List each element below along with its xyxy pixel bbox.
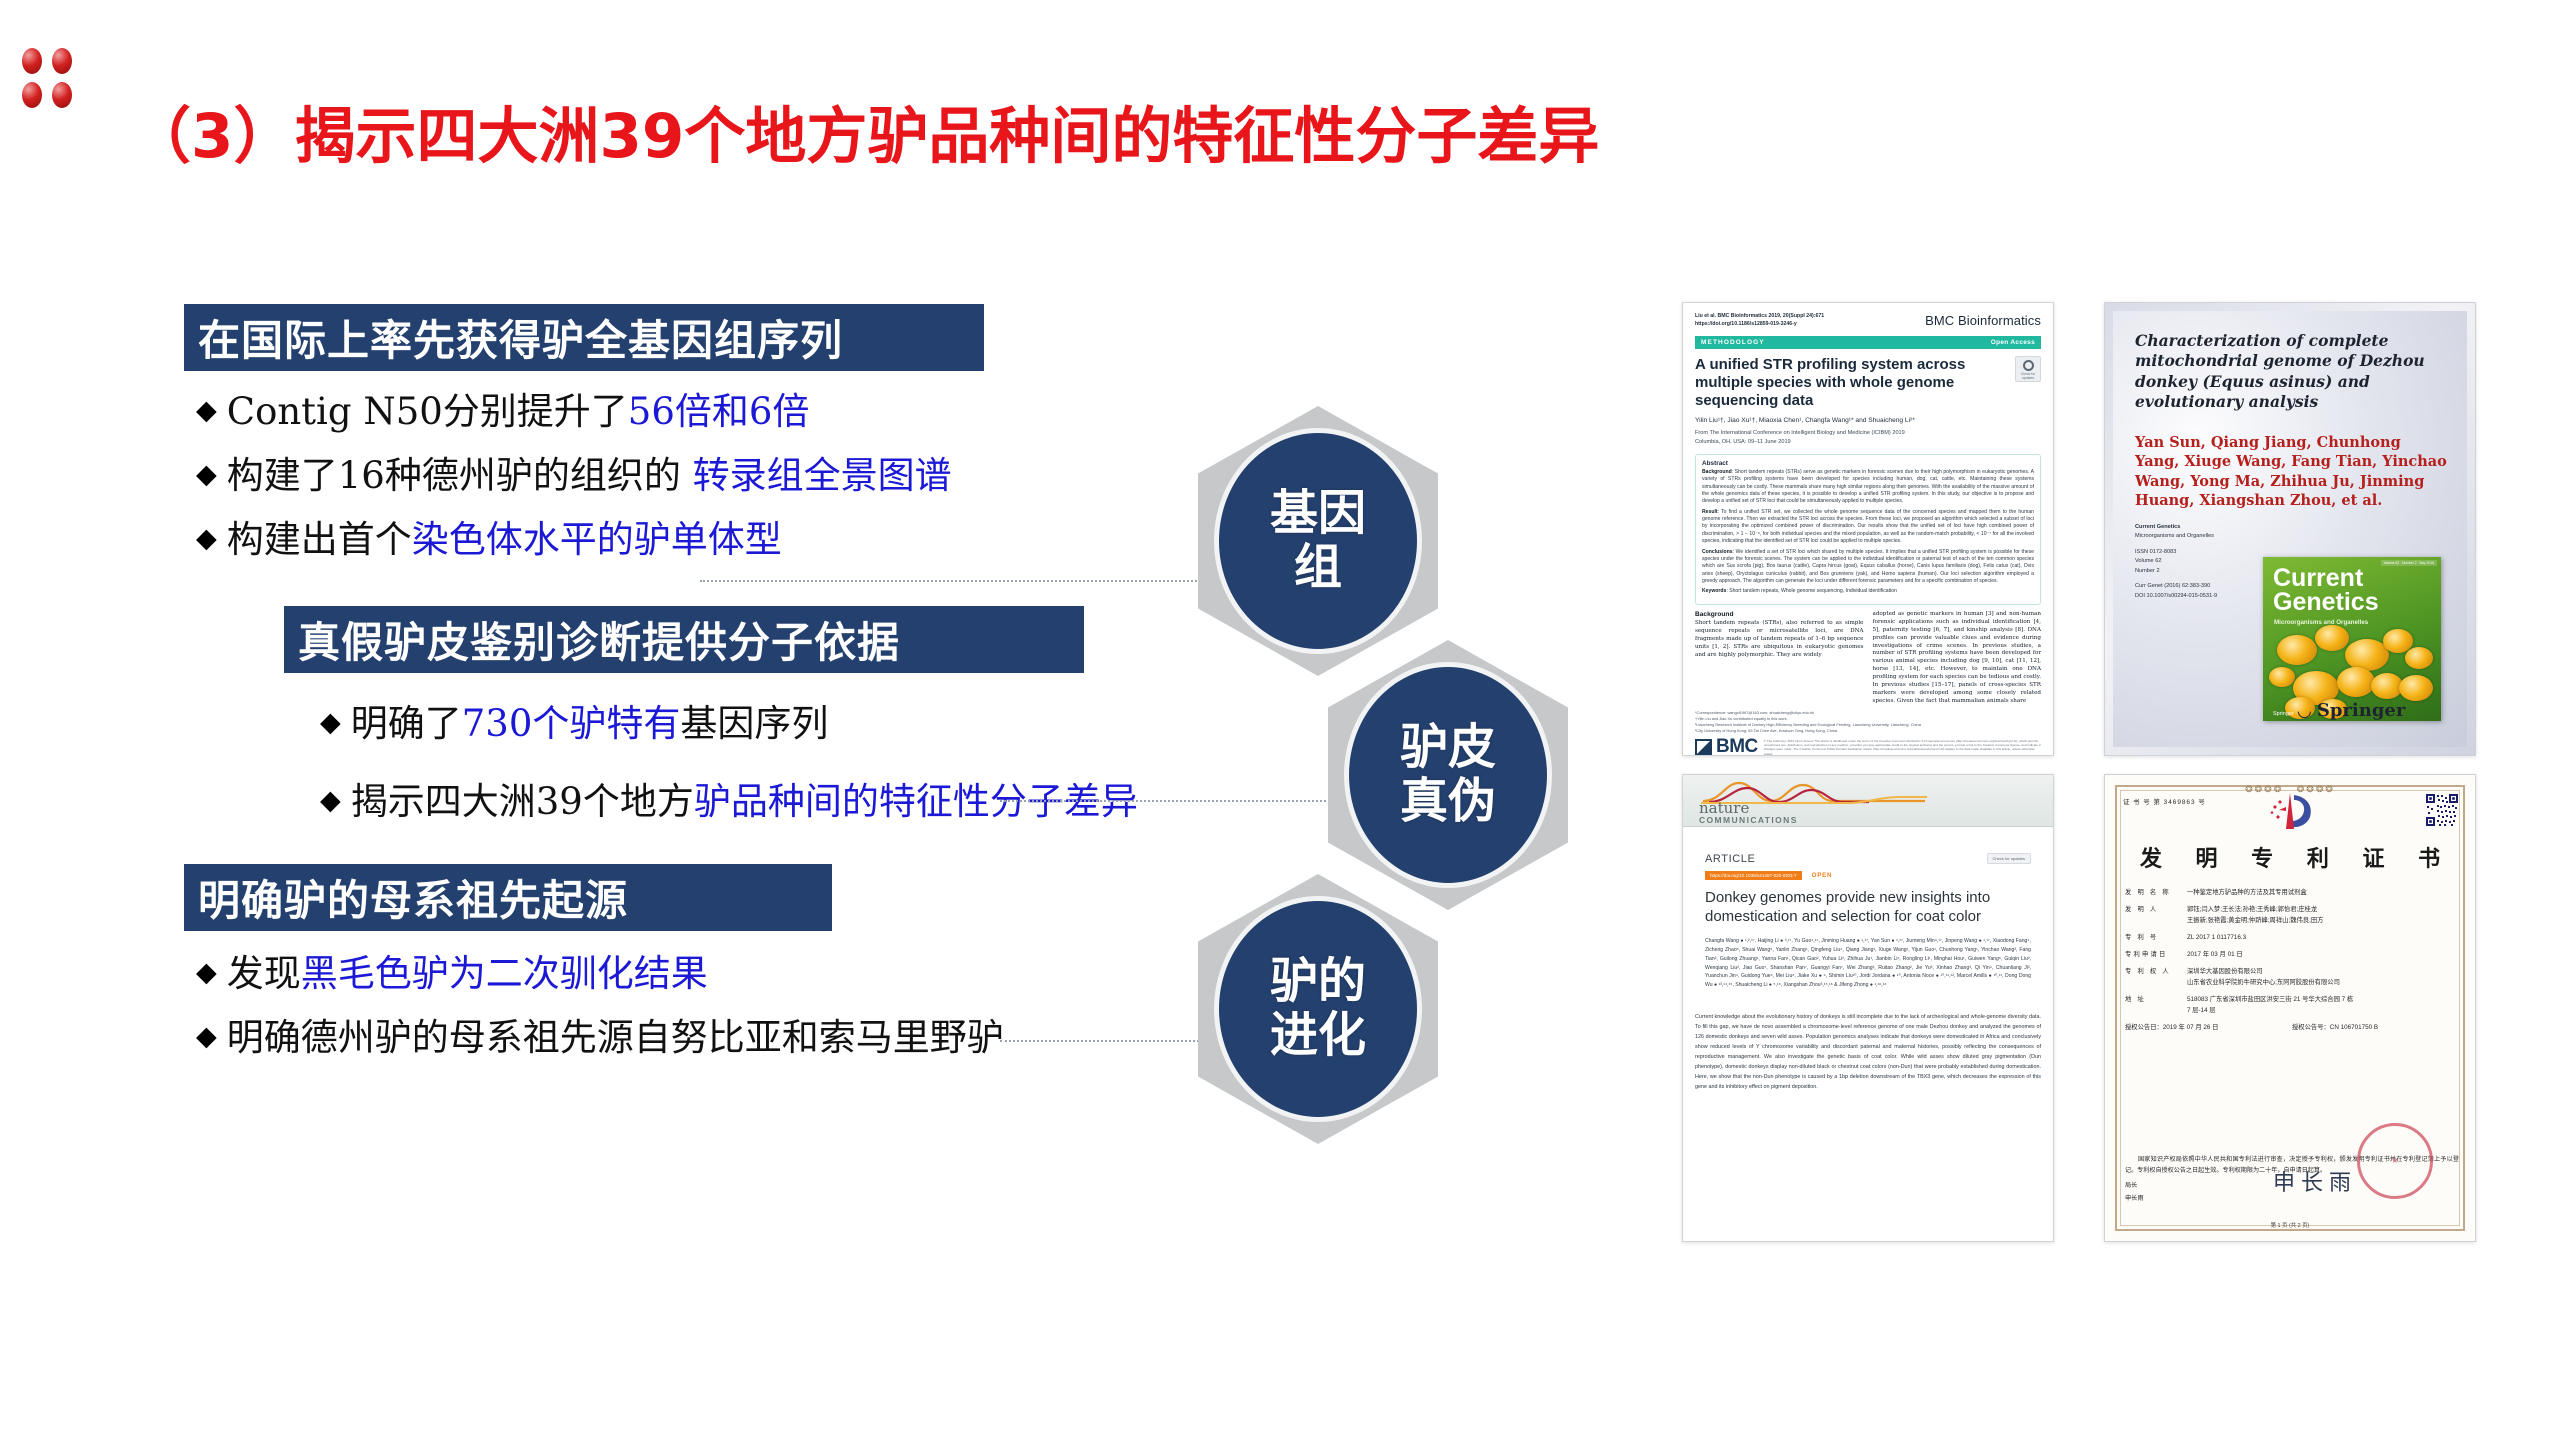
cg-volume: Volume 62 [2135,557,2263,567]
nat-article-label: ARTICLE [1705,853,1755,865]
text-plain: 构建了16种德州驴的组织的 [227,454,693,497]
list-item: ◆ 构建出首个染色体水平的驴单体型 [196,516,1256,564]
text-plain: 构建出首个 [227,518,412,561]
nat-body: ARTICLE Check for updates https://doi.or… [1683,827,2053,990]
field-value-line1: 518083 广东省深圳市盐田区洪安三街 21 号华大综合园 7 栋 [2187,996,2353,1003]
text-plain: 基因序列 [680,702,828,745]
hexagon-label-line1: 基因 [1270,487,1366,541]
deco-dot-1 [22,48,42,74]
text-highlight: 730个驴特有 [462,702,681,745]
section-header-genome: 在国际上率先获得驴全基因组序列 [184,304,984,371]
diamond-bullet-icon: ◆ [196,452,217,497]
cg-number: Number 2 [2135,567,2263,577]
patent-cert-number: 证 书 号 第 3469863 号 [2123,797,2206,806]
patent-note-director-name: 申长雨 [2125,1193,2144,1205]
field-value: 深圳华大基因股份有限公司 山东省农业科学院奶牛研究中心;东阿阿胶股份有限公司 [2187,966,2459,988]
cg-journal-meta: Current Genetics Microorganisms and Orga… [2113,511,2263,602]
bmc-abstract-box: Abstract Background: Short tandem repeat… [1695,454,2041,605]
field-key: 专 利 权 人 [2125,966,2187,988]
list-item-text: 构建了16种德州驴的组织的 转录组全景图谱 [227,452,1256,500]
page-title: （3）揭示四大洲39个地方驴品种间的特征性分子差异 [130,86,1599,175]
field-key: 发 明 名 称 [2125,887,2187,898]
bmc-top-row: Liu et al. BMC Bioinformatics 2019, 20(S… [1683,303,2053,331]
hexagon-shape: 驴皮 真伪 [1328,640,1568,910]
bmc-column-right: adopted as genetic markers in human [3] … [1873,611,2042,706]
bmc-logo-word: BMC [1716,736,1758,756]
check-label: Check for updates [2021,372,2036,380]
hexagon-shape: 基因 组 [1198,406,1438,676]
bmc-footnotes: *Correspondence: wangcf1967@163.com; shu… [1683,706,2053,733]
list-item: ◆ Contig N50分别提升了56倍和6倍 [196,388,1256,436]
bullet-list-maternal-origin: ◆ 发现黑毛色驴为二次驯化结果 ◆ 明确德州驴的母系祖先源自努比亚和索马里野驴 [196,950,1176,1078]
bullet-list-donkeyhide: ◆ 明确了730个驴特有基因序列 ◆ 揭示四大洲39个地方驴品种间的特征性分子差… [320,700,1340,856]
deco-dot-4 [52,82,72,108]
connector-line-evolution [1000,1040,1215,1042]
hexagon-label-line2: 进化 [1270,1009,1366,1063]
patent-field-row: 发 明 名 称 一种鉴定地方驴品种的方法及其专用试剂盒 [2125,887,2459,898]
list-item-text: 明确了730个驴特有基因序列 [351,700,1340,748]
nature-communications-wordmark: COMMUNICATIONS [1699,815,1798,825]
nat-open-badge: OPEN [1812,872,1833,879]
nat-authors: Changfa Wang ● ¹,²,¹⁷, Haijing Li ● ³,¹⁷… [1705,937,2031,990]
springer-glyph-icon: ◡ [2297,701,2312,721]
bmc-conf-line2: Columbia, OH, USA: 09–11 June 2019 [1695,438,2041,447]
decorative-dots [22,48,84,110]
text-plain: Contig N50分别提升了 [227,390,628,433]
body: : To find a unified STR set, we collecte… [1702,509,2034,545]
field-value: 2017 年 03 月 01 日 [2187,949,2459,960]
patent-signature: 申长雨 [2273,1165,2357,1197]
patent-fields: 发 明 名 称 一种鉴定地方驴品种的方法及其专用试剂盒 发 明 人 郭钰;闫入梦… [2125,887,2459,1039]
bmc-license-text: © The Author(s). 2019 Open Access This a… [1764,739,2041,756]
qr-code-icon [2425,793,2459,827]
bmc-conf-line1: From The International Conference on Int… [1695,429,2041,438]
hexagon-label-line2: 组 [1294,541,1342,595]
cg-authors: Yan Sun, Qiang Jiang, Chunhong Yang, Xiu… [2113,413,2467,511]
patent-field-row: 发 明 人 郭钰;闫入梦;王长法;孙艳;王秀峰;郭怡君;庄桂龙 王振新;张艳霞;… [2125,904,2459,926]
text-highlight: 56倍和6倍 [628,390,810,433]
list-item: ◆ 明确德州驴的母系祖先源自努比亚和索马里野驴 [196,1014,1096,1062]
cg-cover-springer: Springer [2273,711,2294,717]
cg-publisher-name: Springer [2317,700,2406,721]
cg-journal-cover-image: Volume 62 · Number 2 · May 2016 Current … [2263,557,2441,721]
hexagon-label: 驴皮 真伪 [1344,662,1553,889]
document-nature-communications[interactable]: nature COMMUNICATIONS ARTICLE Check for … [1682,774,2054,1242]
list-item-text: 揭示四大洲39个地方驴品种间的特征性分子差异 [351,778,1340,826]
patent-office-logo-icon [2264,791,2316,831]
document-patent-certificate[interactable]: ❂❂❂❂ ❂❂❂❂ 证 书 号 第 3469863 号 [2104,774,2476,1242]
section-header-maternal-origin: 明确驴的母系祖先起源 [184,864,832,931]
diamond-bullet-icon: ◆ [196,1014,217,1059]
cg-issn: ISSN 0172-8083 [2135,548,2263,558]
bmc-logo-mark-icon [1695,739,1712,756]
field-key: 专利申请日 [2125,949,2187,960]
list-item: ◆ 构建了16种德州驴的组织的 转录组全景图谱 [196,452,1256,500]
hexagon-shape: 驴的 进化 [1198,874,1438,1144]
bmc-journal-brand: BMC Bioinformatics [1925,313,2041,328]
text-plain: 明确了 [351,702,462,745]
field-value-line2: 王振新;张艳霞;黄金明;仲跻峰;周祥山;魏伟良;田方 [2187,915,2459,926]
document-bmc-bioinformatics[interactable]: Liu et al. BMC Bioinformatics 2019, 20(S… [1682,302,2054,756]
cg-doi: DOI 10.1007/s00294-015-0531-9 [2135,592,2263,602]
ring-shape [2023,360,2034,371]
bmc-abstract-result: Result: To find a unified STR set, we co… [1702,509,2034,546]
bmc-paper-title: A unified STR profiling system across mu… [1695,356,2009,411]
list-item: ◆ 揭示四大洲39个地方驴品种间的特征性分子差异 [320,778,1340,826]
patent-grant-row: 授权公告日：2019 年 07 月 26 日 授权公告号：CN 10670175… [2125,1022,2459,1033]
field-value-line1: 深圳华大基因股份有限公司 [2187,968,2263,975]
hexagon-label: 基因 组 [1214,428,1423,655]
cg-cover-volume: Volume 62 · Number 2 · May 2016 [2381,560,2437,566]
bmc-title-row: A unified STR profiling system across mu… [1683,349,2053,411]
field-value: 518083 广东省深圳市盐田区洪安三街 21 号华大综合园 7 栋 7 层-1… [2187,994,2459,1016]
patent-field-row: 地 址 518083 广东省深圳市盐田区洪安三街 21 号华大综合园 7 栋 7… [2125,994,2459,1016]
nat-abstract: Current knowledge about the evolutionary… [1683,1012,2053,1092]
text-plain: 发现 [227,952,301,995]
body: : Short tandem repeats, Whole genome seq… [1726,588,1896,594]
diamond-bullet-icon: ◆ [196,516,217,561]
text-highlight: 染色体水平的驴单体型 [412,518,782,561]
label: Keywords [1702,588,1726,594]
bmc-methodology-strip: METHODOLOGY Open Access [1695,336,2041,349]
hexagon-label-line1: 驴皮 [1400,721,1496,775]
hexagon-genome[interactable]: 基因 组 [1198,406,1438,676]
label: Background [1702,469,1732,475]
deco-dot-2 [52,48,72,74]
patent-note-director-label: 局长 [2125,1180,2144,1192]
nat-paper-title: Donkey genomes provide new insights into… [1705,889,2031,927]
cg-inner-page: Characterization of complete mitochondri… [2113,311,2467,747]
field-value-line2: 山东省农业科学院奶牛研究中心;东阿阿胶股份有限公司 [2187,977,2459,988]
field-value: 郭钰;闫入梦;王长法;孙艳;王秀峰;郭怡君;庄桂龙 王振新;张艳霞;黄金明;仲跻… [2187,904,2459,926]
bmc-two-columns: Background Short tandem repeats (STRs), … [1683,605,2053,706]
field-key: 发 明 人 [2125,904,2187,926]
bullet-list-genome: ◆ Contig N50分别提升了56倍和6倍 ◆ 构建了16种德州驴的组织的 … [196,388,1256,580]
document-current-genetics[interactable]: Characterization of complete mitochondri… [2104,302,2476,756]
hexagon-evolution[interactable]: 驴的 进化 [1198,874,1438,1144]
list-item-text: 明确德州驴的母系祖先源自努比亚和索马里野驴 [227,1014,1096,1062]
field-value-line2: 7 层-14 层 [2187,1005,2459,1016]
patent-official-seal: ★ [2357,1123,2433,1199]
bmc-keywords: Keywords: Short tandem repeats, Whole ge… [1702,588,2034,595]
nat-doi-row: https://doi.org/10.1038/s41467-020-ID03-… [1705,871,2031,880]
hexagon-label-line2: 真伪 [1400,775,1496,829]
cg-publisher-logo: ◡ Springer [2297,700,2405,721]
cg-cover-title-1: Current [2273,567,2363,590]
cg-cover-title-2: Genetics [2273,591,2379,614]
diamond-bullet-icon: ◆ [320,778,341,823]
bmc-abstract-heading: Abstract [1702,460,2034,467]
nat-doi-link[interactable]: https://doi.org/10.1038/s41467-020-ID03-… [1705,871,1802,880]
body: : We identified a set of STR loci which … [1702,549,2034,585]
deco-dot-3 [22,82,42,108]
list-item: ◆ 发现黑毛色驴为二次驯化结果 [196,950,1176,998]
bmc-abstract-conclusions: Conclusions: We identified a set of STR … [1702,549,2034,586]
diamond-bullet-icon: ◆ [196,950,217,995]
nat-masthead: nature COMMUNICATIONS [1683,775,2053,827]
text-highlight: 转录组全景图谱 [693,454,952,497]
bmc-citation-line1: Liu et al. BMC Bioinformatics 2019, 20(S… [1695,313,1824,321]
patent-left-notes: 局长 申长雨 [2125,1180,2144,1205]
list-item: ◆ 明确了730个驴特有基因序列 [320,700,1340,748]
field-key: 地 址 [2125,994,2187,1016]
nat-article-row: ARTICLE Check for updates [1705,853,2031,865]
diamond-bullet-icon: ◆ [196,388,217,433]
patent-title: 发 明 专 利 证 书 [2105,841,2475,873]
bmc-authors: Yilin Liu¹†, Jiao Xu¹†, Miaoxia Chen¹, C… [1683,410,2053,424]
bmc-abstract-background: Background: Short tandem repeats (STRs) … [1702,469,2034,506]
check-for-updates-icon: Check for updates [1987,853,2031,864]
body: : Short tandem repeats (STRs) serve as g… [1702,469,2034,505]
connector-line-genome [700,580,1220,582]
field-value-line1: 郭钰;闫入梦;王长法;孙艳;王秀峰;郭怡君;庄桂龙 [2187,906,2317,913]
bmc-citation-line2: https://doi.org/10.1186/s12859-019-3246-… [1695,321,1824,329]
field-value: ZL 2017 1 0117716.3 [2187,932,2459,943]
cg-citation: Curr Genet (2016) 62:383-390 [2135,582,2263,592]
cg-journal-name: Current Genetics [2135,523,2263,533]
nature-wordmark: nature [1699,801,1749,816]
bmc-conference: From The International Conference on Int… [1683,424,2053,446]
diamond-bullet-icon: ◆ [320,700,341,745]
bmc-strip-right: Open Access [1991,339,2035,346]
cg-journal-sub: Microorganisms and Organelles [2135,532,2263,542]
patent-field-row: 专 利 号 ZL 2017 1 0117716.3 [2125,932,2459,943]
patent-grant-number: 授权公告号：CN 106701750 B [2292,1022,2459,1033]
bmc-background-heading: Background [1695,611,1864,618]
hexagon-label: 驴的 进化 [1214,896,1423,1123]
list-item-text: Contig N50分别提升了56倍和6倍 [227,388,1256,436]
patent-grant-date: 授权公告日：2019 年 07 月 26 日 [2125,1022,2292,1033]
label: Conclusions [1702,549,1733,555]
patent-field-row: 专利申请日 2017 年 03 月 01 日 [2125,949,2459,960]
label: Result [1702,509,1718,515]
text-plain: 揭示四大洲39个地方 [351,780,694,823]
list-item-text: 构建出首个染色体水平的驴单体型 [227,516,1256,564]
bmc-strip-left: METHODOLOGY [1701,339,1765,346]
field-value: 一种鉴定地方驴品种的方法及其专用试剂盒 [2187,887,2459,898]
bmc-citation: Liu et al. BMC Bioinformatics 2019, 20(S… [1695,313,1824,329]
patent-page-number: 第 1 页 (共 2 页) [2105,1221,2475,1229]
section-header-donkeyhide: 真假驴皮鉴别诊断提供分子依据 [284,606,1084,673]
list-item-text: 发现黑毛色驴为二次驯化结果 [227,950,1176,998]
bmc-column-left: Background Short tandem repeats (STRs), … [1695,611,1864,706]
bmc-background-col1: Short tandem repeats (STRs), also referr… [1695,620,1864,660]
bmc-logo-row: BMC © The Author(s). 2019 Open Access Th… [1683,733,2053,756]
text-highlight: 黑毛色驴为二次驯化结果 [301,952,708,995]
hexagon-donkeyhide[interactable]: 驴皮 真伪 [1328,640,1568,910]
field-key: 专 利 号 [2125,932,2187,943]
cg-paper-title: Characterization of complete mitochondri… [2113,311,2467,413]
hexagon-label-line1: 驴的 [1270,955,1366,1009]
bmc-background-col2: adopted as genetic markers in human [3] … [1873,611,2042,706]
connector-line-donkeyhide [1000,800,1350,802]
check-for-updates-icon: Check for updates [2015,356,2041,382]
patent-field-row: 专 利 权 人 深圳华大基因股份有限公司 山东省农业科学院奶牛研究中心;东阿阿胶… [2125,966,2459,988]
